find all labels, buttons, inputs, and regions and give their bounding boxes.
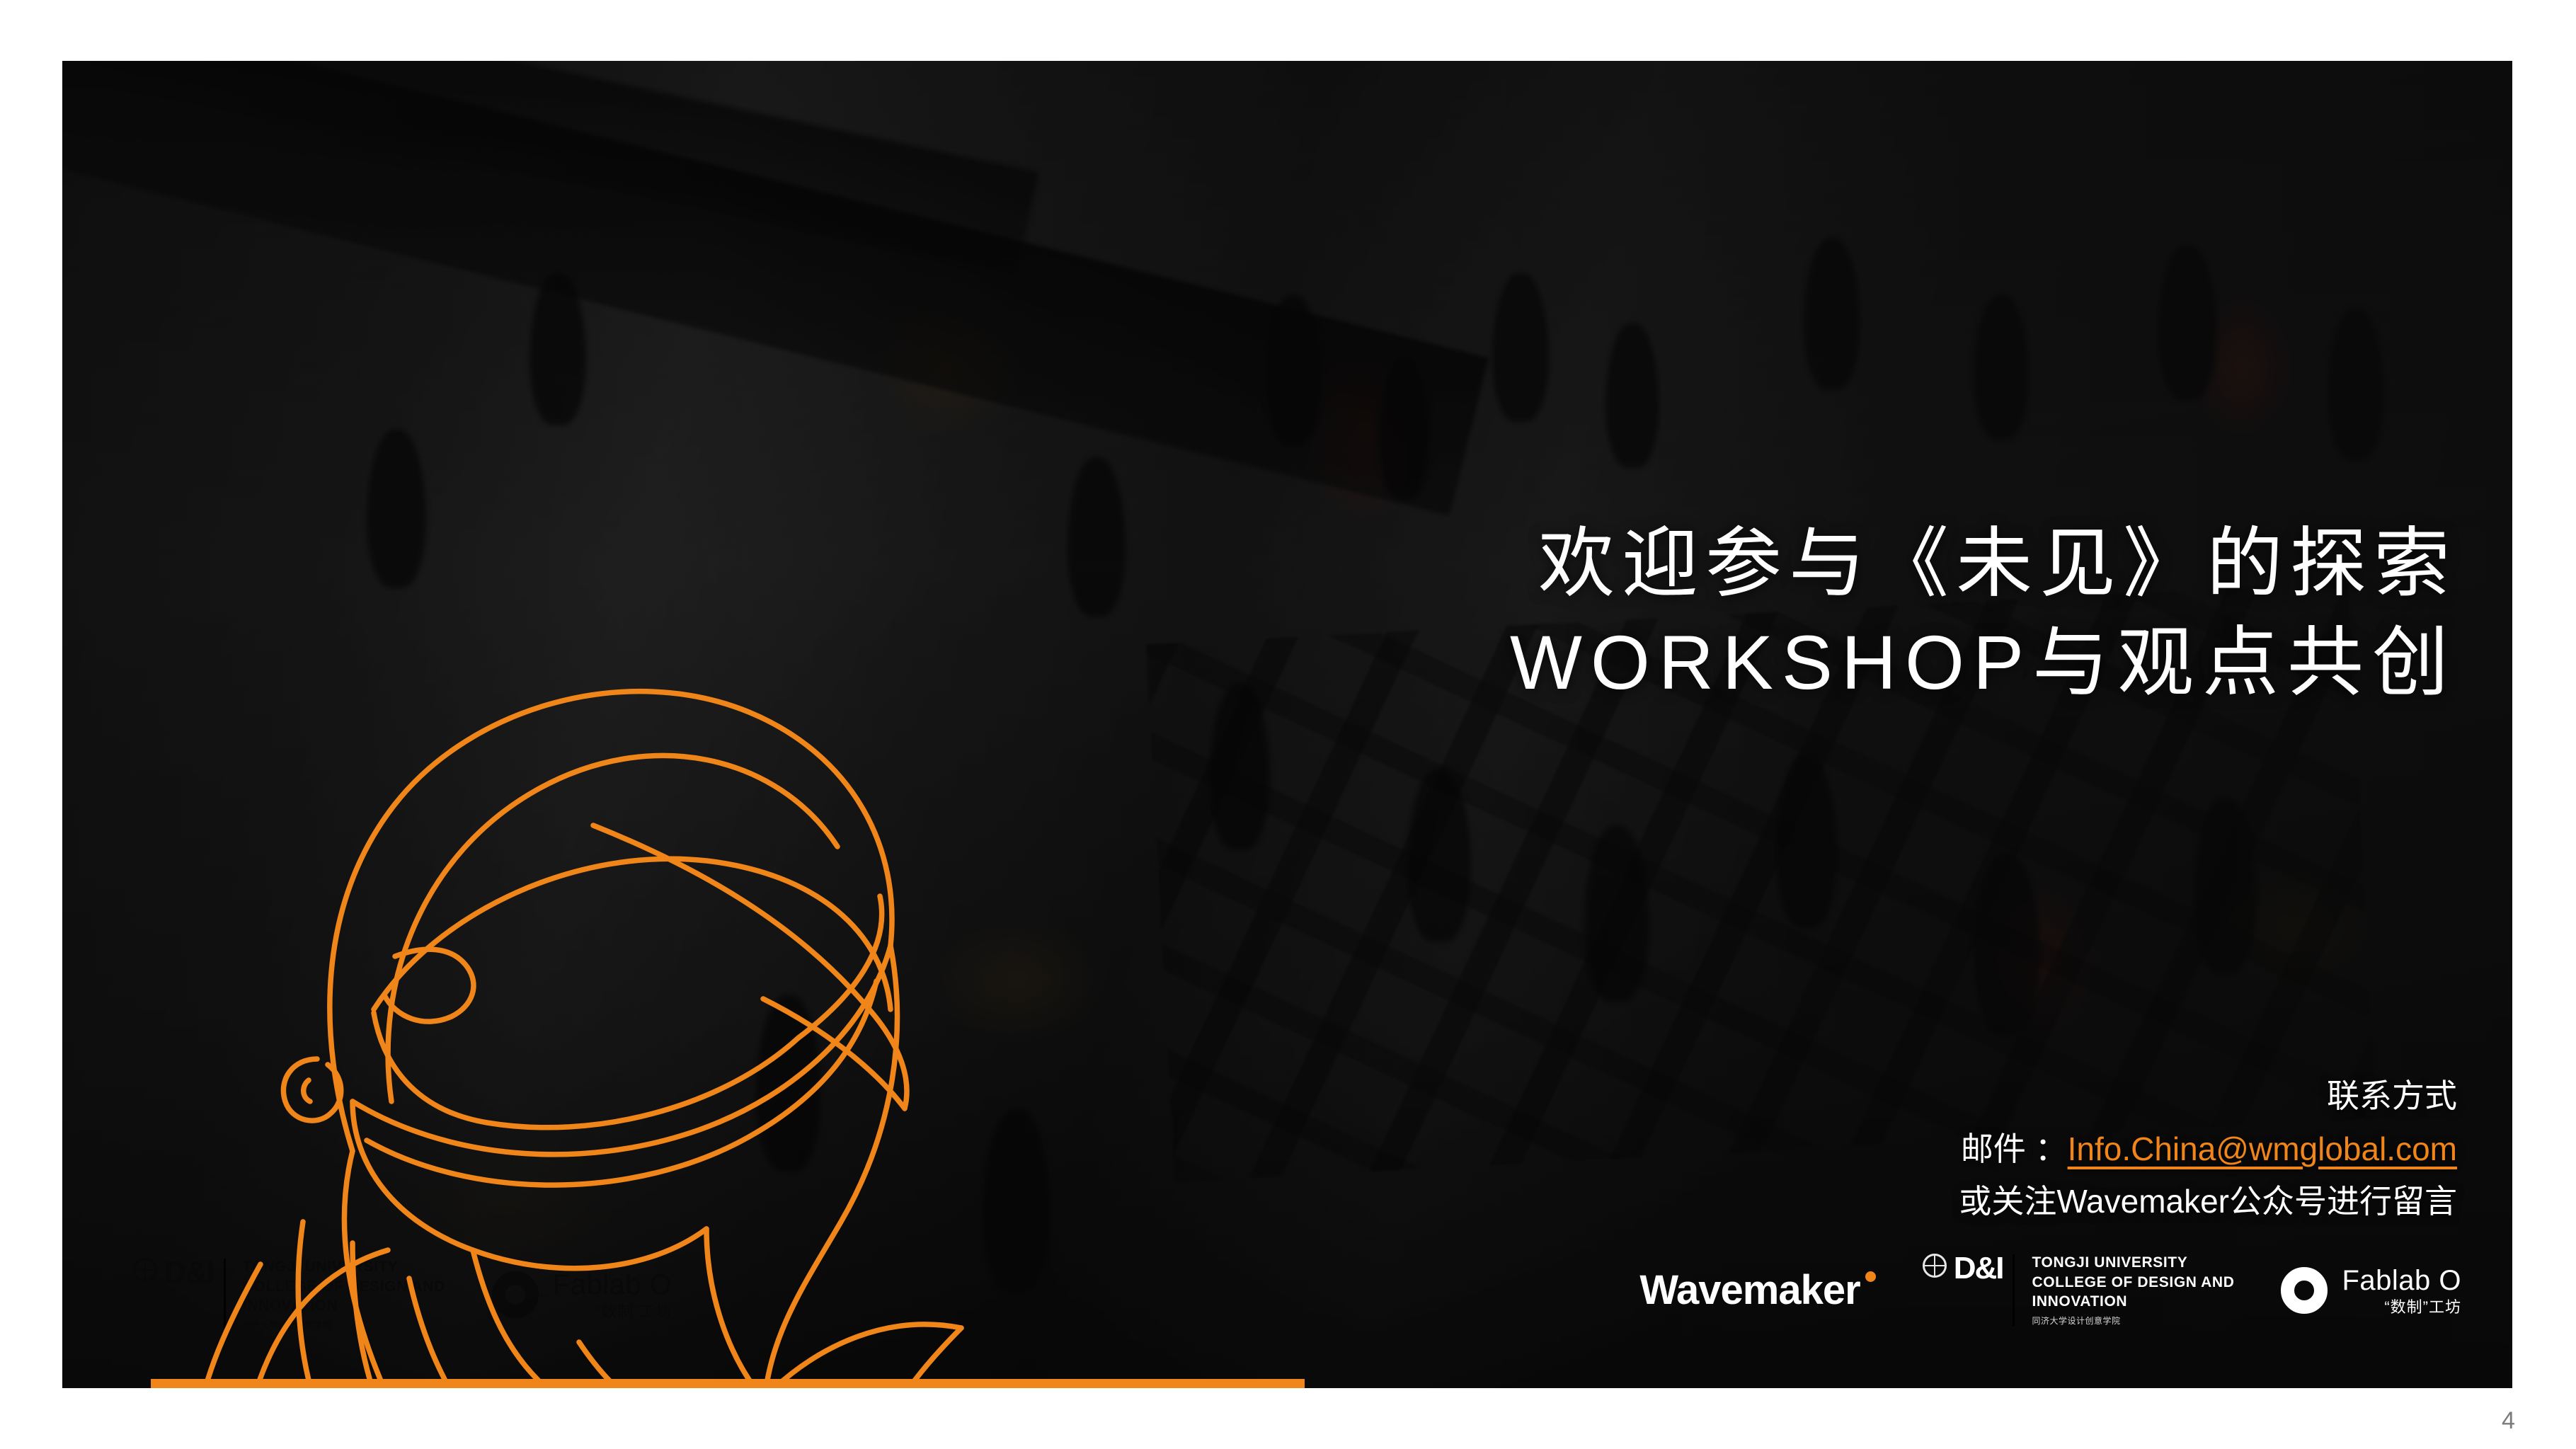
accent-baseline-bar (151, 1379, 1305, 1388)
dni-logo-dark: D&I TONGJI UNIVERSITY COLLEGE OF DESIGN … (133, 1257, 445, 1331)
globe-icon (1923, 1254, 1947, 1278)
dni-wordmark: TONGJI UNIVERSITY COLLEGE OF DESIGN AND … (2032, 1253, 2234, 1327)
title-line-1: 欢迎参与《未见》的探索 (1510, 514, 2457, 613)
page-title: 欢迎参与《未见》的探索 WORKSHOP与观点共创 (1510, 514, 2457, 713)
dni-chinese: 同济大学设计创意学院 (243, 1319, 445, 1331)
fablab-chinese: “数制”工坊 (553, 1303, 672, 1320)
contact-email-row: 邮件 ：Info.China@wmglobal.com (1959, 1123, 2457, 1176)
dni-line-3: INNOVATION (2032, 1292, 2234, 1311)
dni-line-1: TONGJI UNIVERSITY (243, 1257, 445, 1276)
dni-line-2: COLLEGE OF DESIGN AND (243, 1277, 445, 1296)
dni-line-2: COLLEGE OF DESIGN AND (2032, 1273, 2234, 1292)
email-label: 邮件 ： (1961, 1130, 2068, 1167)
fablab-chinese: “数制”工坊 (2342, 1299, 2461, 1316)
title-line-2: WORKSHOP与观点共创 (1510, 613, 2457, 712)
contact-heading: 联系方式 (1959, 1070, 2457, 1123)
fablab-name: Fablab O (2342, 1265, 2461, 1296)
presentation-slide: D&I TONGJI UNIVERSITY COLLEGE OF DESIGN … (62, 61, 2512, 1388)
wavemaker-logo: Wavemaker (1639, 1270, 1875, 1311)
fablab-logo-dark: Fablab O “数制”工坊 (492, 1269, 672, 1320)
dni-mark: D&I (133, 1257, 214, 1288)
divider (2013, 1254, 2015, 1326)
dni-line-3: INNOVATION (243, 1296, 445, 1315)
dni-logo: D&I TONGJI UNIVERSITY COLLEGE OF DESIGN … (1923, 1253, 2235, 1327)
ring-icon (2281, 1267, 2328, 1314)
dni-mark: D&I (1923, 1253, 2003, 1284)
contact-block: 联系方式 邮件 ：Info.China@wmglobal.com 或关注Wave… (1959, 1070, 2457, 1228)
fablab-wordmark: Fablab O “数制”工坊 (2342, 1265, 2461, 1316)
divider (224, 1259, 226, 1330)
fablab-name: Fablab O (553, 1269, 672, 1300)
partner-logos-left: D&I TONGJI UNIVERSITY COLLEGE OF DESIGN … (133, 1257, 672, 1331)
fablab-logo: Fablab O “数制”工坊 (2281, 1265, 2461, 1316)
partner-logos-right: Wavemaker D&I TONGJI UNIVERSITY COLLEGE … (1639, 1253, 2461, 1327)
email-link[interactable]: Info.China@wmglobal.com (2068, 1130, 2457, 1167)
dni-wordmark: TONGJI UNIVERSITY COLLEGE OF DESIGN AND … (243, 1257, 445, 1331)
dni-chinese: 同济大学设计创意学院 (2032, 1315, 2234, 1327)
dni-line-1: TONGJI UNIVERSITY (2032, 1253, 2234, 1272)
fablab-wordmark: Fablab O “数制”工坊 (553, 1269, 672, 1320)
ring-icon (492, 1271, 539, 1318)
page-number: 4 (2502, 1407, 2515, 1435)
wavemaker-dot-icon (1865, 1271, 1876, 1282)
wechat-note: 或关注Wavemaker公众号进行留言 (1959, 1175, 2457, 1228)
globe-icon (133, 1258, 157, 1282)
